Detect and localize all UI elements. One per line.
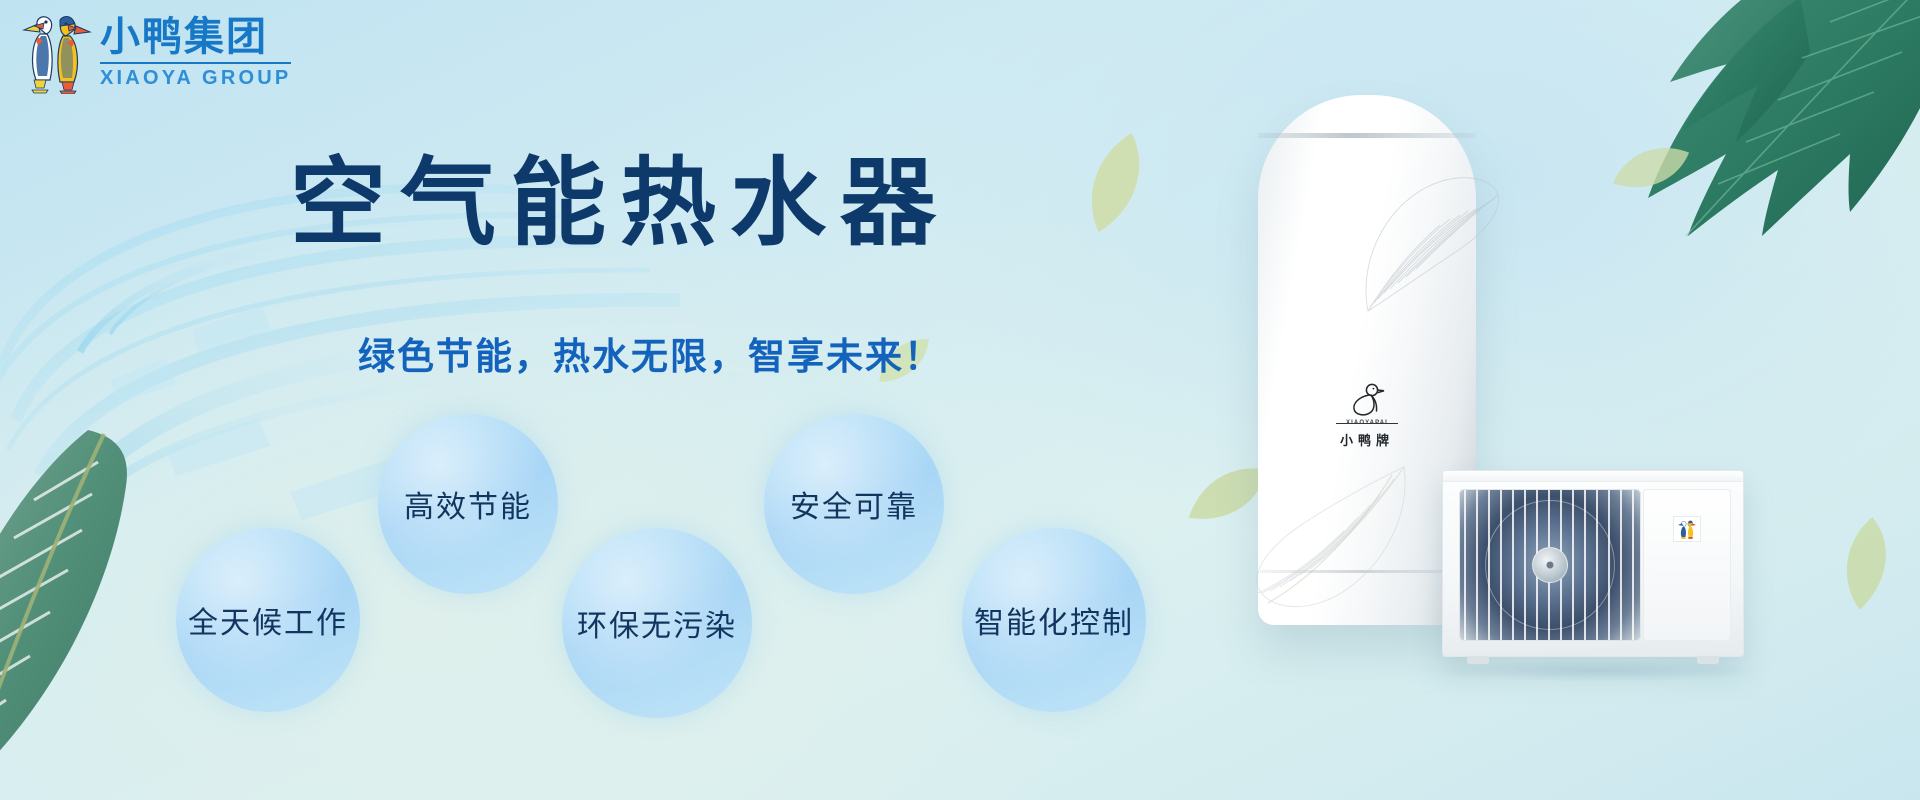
tank-brand-en: XIAOYAPAI [1346,420,1388,426]
feature-label: 全天候工作 [188,598,348,642]
tank-top-ring [1258,133,1476,138]
page-subtitle: 绿色节能，热水无限，智享未来！ [358,338,943,375]
outdoor-unit-feet [1443,656,1743,664]
feature-label: 安全可靠 [790,482,918,526]
logo-text-cn: 小鸭集团 [100,17,291,57]
feature-bubble-eco[interactable]: 环保无污染 [562,528,752,718]
floating-leaf-icon [1604,119,1698,217]
tank-brand-cn: 小鸭牌 [1340,430,1394,449]
floating-leaf-icon [1817,509,1918,617]
fan-ring [1485,500,1615,630]
page-title: 空气能热水器 [290,155,950,251]
outdoor-unit [1442,470,1744,657]
water-tank-unit: XIAOYAPAI 小鸭牌 [1258,95,1476,625]
outdoor-unit-top-cover [1443,471,1743,482]
floating-leaf-icon [1182,442,1276,546]
tank-base-ring [1260,570,1474,573]
brand-logo[interactable]: 小鸭集团 XIAOYA GROUP [20,10,291,94]
product-image: XIAOYAPAI 小鸭牌 [1200,0,1920,800]
feature-label: 智能化控制 [974,598,1134,642]
feature-label: 高效节能 [404,482,532,526]
feature-bubble-allweather[interactable]: 全天候工作 [176,528,360,712]
outdoor-unit-side-panel [1643,489,1731,641]
feature-bubble-safe[interactable]: 安全可靠 [764,414,944,594]
floating-leaf-icon [1065,124,1169,239]
tank-brand-mark: XIAOYAPAI 小鸭牌 [1336,381,1398,449]
fan-grille-icon [1459,489,1641,641]
feature-label: 环保无污染 [577,601,737,645]
fan-hub [1532,547,1568,583]
tank-brand-divider [1336,423,1398,424]
ginkgo-leaf-pattern-icon [1350,161,1500,321]
duck-mascot-badge-icon [1673,516,1701,542]
logo-text-en: XIAOYA GROUP [100,68,291,88]
feature-bubble-efficient[interactable]: 高效节能 [378,414,558,594]
logo-divider [100,62,291,64]
floating-leaf-icon [1314,403,1426,517]
duck-outline-icon [1347,381,1387,421]
duck-mascot-pair-icon [20,10,94,94]
product-shadow [1432,660,1762,682]
ginkgo-leaf-pattern-icon [1242,445,1412,625]
monstera-leaf-icon [1530,0,1920,290]
promo-banner: 小鸭集团 XIAOYA GROUP 空气能热水器 绿色节能，热水无限，智享未来！… [0,0,1920,800]
feature-bubble-smart[interactable]: 智能化控制 [962,528,1146,712]
grille-bars [1460,490,1640,640]
